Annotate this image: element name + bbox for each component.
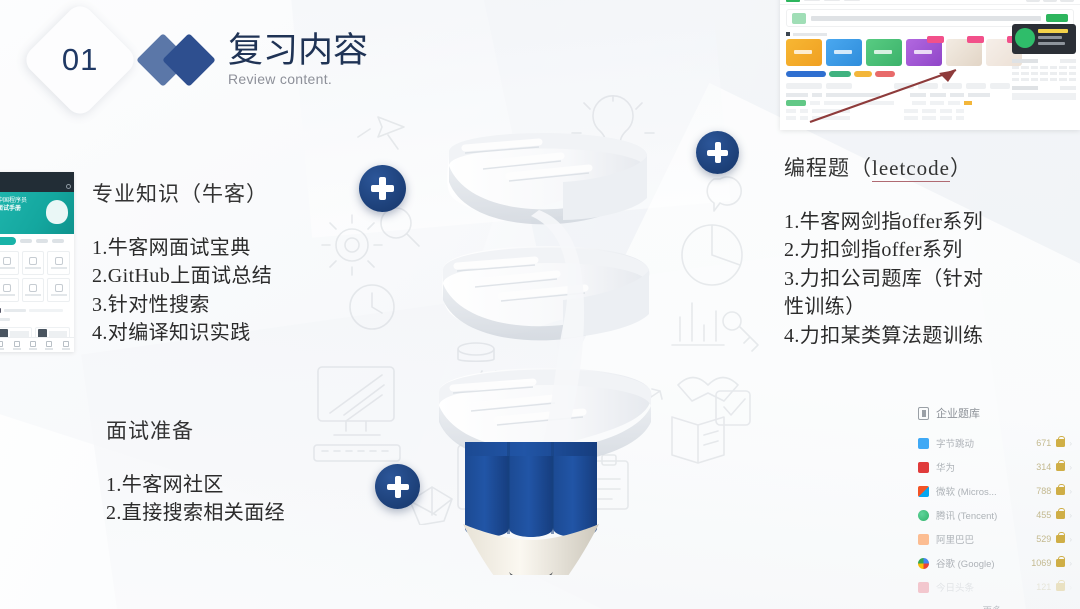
- company-row[interactable]: 谷歌 (Google) 1069 ›: [904, 551, 1080, 575]
- company-count: 121: [1036, 582, 1051, 592]
- block-heading: 专业知识（牛客）: [92, 178, 392, 208]
- lock-icon: [1056, 439, 1065, 447]
- company-logo-icon: [918, 462, 929, 473]
- mobile-section-header: [0, 306, 74, 315]
- plus-icon-button-2[interactable]: [696, 131, 739, 174]
- mobile-nav-item: [58, 338, 74, 352]
- block-item: 3.针对性搜索: [92, 291, 392, 319]
- company-row[interactable]: 今日头条 121 ›: [904, 575, 1080, 599]
- search-icon: [66, 184, 71, 189]
- spiral-staircase-pencil-illustration: [413, 120, 683, 575]
- book-icon: [918, 407, 929, 420]
- mobile-bottom-nav: [0, 337, 74, 352]
- company-name: 腾讯 (Tencent): [936, 508, 997, 522]
- mobile-tab-active: [0, 237, 16, 245]
- company-count: 314: [1036, 462, 1051, 472]
- diamond-logo-icon: [144, 30, 222, 90]
- mobile-tab-strip: [0, 234, 74, 247]
- lc-topbar-button: [1060, 0, 1074, 2]
- lc-sidebar-section-header: [1012, 86, 1076, 90]
- company-name: 微软 (Micros...: [936, 484, 997, 498]
- lock-icon: [1056, 535, 1065, 543]
- lc-daily-sub: [1038, 36, 1062, 39]
- mobile-nav-item: [8, 338, 24, 352]
- mobile-tab: [20, 239, 32, 243]
- chevron-right-icon: ›: [1069, 535, 1072, 544]
- lock-icon: [1056, 463, 1065, 471]
- company-logo-icon: [918, 486, 929, 497]
- heading-prefix: 编程题（: [784, 156, 872, 180]
- company-name: 阿里巴巴: [936, 532, 974, 546]
- company-more-link[interactable]: 更多: [904, 599, 1080, 609]
- company-row[interactable]: 华为 314 ›: [904, 455, 1080, 479]
- block-heading: 面试准备: [106, 415, 406, 445]
- chevron-right-icon: ›: [1069, 439, 1072, 448]
- mobile-nav-item: [25, 338, 41, 352]
- mobile-statusbar: [0, 172, 74, 181]
- leetcode-problemset-screenshot: [780, 0, 1080, 130]
- block-item: 3.力扣公司题库（针对: [784, 265, 1074, 293]
- company-count: 1069: [1031, 558, 1051, 568]
- mobile-tab: [36, 239, 48, 243]
- lc-calendar-week: [1012, 78, 1076, 81]
- lc-banner-icon: [792, 13, 806, 24]
- red-annotation-arrow: [806, 60, 976, 126]
- lc-calendar-week: [1012, 72, 1076, 75]
- company-row[interactable]: 字节跳动 671 ›: [904, 431, 1080, 455]
- company-panel-title-label: 企业题库: [936, 405, 980, 421]
- company-row[interactable]: 腾讯 (Tencent) 455 ›: [904, 503, 1080, 527]
- lock-icon: [1056, 511, 1065, 519]
- lc-daily-title: [1038, 29, 1068, 33]
- company-count: 788: [1036, 486, 1051, 496]
- lc-logo-icon: [786, 0, 800, 2]
- page-subtitle: Review content.: [228, 71, 368, 87]
- company-logo-icon: [918, 582, 929, 593]
- title-wrap: 复习内容 Review content.: [228, 33, 368, 88]
- lc-menu-item: [844, 0, 860, 1]
- lc-daily-progress-icon: [1015, 28, 1035, 48]
- mobile-grid-cell: [22, 278, 45, 302]
- mobile-hero-graphic: [46, 200, 68, 224]
- company-logo-icon: [918, 558, 929, 569]
- company-count: 529: [1036, 534, 1051, 544]
- slide-header: 01 复习内容 Review content.: [24, 10, 368, 110]
- lc-daily-challenge-card: [1012, 24, 1076, 54]
- lc-calendar-header: [1012, 59, 1076, 63]
- block-heading: 编程题（leetcode）: [784, 152, 1074, 182]
- text-block-coding-problems: 编程题（leetcode） 1.牛客网剑指offer系列 2.力扣剑指offer…: [784, 152, 1074, 350]
- mobile-hero-banner: 中国程序员面试手册: [0, 192, 74, 234]
- page-title: 复习内容: [228, 33, 368, 70]
- mobile-grid-cell: [47, 278, 70, 302]
- chevron-right-icon: ›: [1069, 511, 1072, 520]
- company-row[interactable]: 阿里巴巴 529 ›: [904, 527, 1080, 551]
- company-count: 671: [1036, 438, 1051, 448]
- mobile-icon-grid: [0, 247, 74, 306]
- lc-section-label: [793, 33, 827, 36]
- leetcode-link[interactable]: leetcode: [872, 156, 950, 182]
- lc-right-sidebar: [1012, 24, 1076, 100]
- lc-calendar: [1012, 59, 1076, 81]
- block-item: 1.牛客网剑指offer系列: [784, 208, 1074, 236]
- block-item: 1.牛客网面试宝典: [92, 234, 392, 262]
- mobile-grid-cell: [47, 251, 70, 275]
- company-name: 今日头条: [936, 580, 974, 594]
- chevron-right-icon: ›: [1069, 463, 1072, 472]
- mobile-grid-cell: [0, 251, 19, 275]
- mobile-grid-cell: [22, 251, 45, 275]
- lc-menu-item: [824, 0, 840, 1]
- company-logo-icon: [918, 438, 929, 449]
- slide-number: 01: [62, 42, 98, 78]
- company-count: 455: [1036, 510, 1051, 520]
- mobile-nav-item: [0, 338, 8, 352]
- block-item: 2.GitHub上面试总结: [92, 262, 392, 290]
- mobile-section-subheader: [0, 315, 74, 324]
- lc-daily-sub: [1038, 42, 1065, 45]
- company-panel-title: 企业题库: [904, 399, 1080, 431]
- company-name: 字节跳动: [936, 436, 974, 450]
- company-row[interactable]: 微软 (Micros... 788 ›: [904, 479, 1080, 503]
- lc-section-icon: [786, 32, 790, 36]
- mobile-hero-caption: 中国程序员面试手册: [0, 198, 27, 213]
- nowcoder-mobile-screenshot: 中国程序员面试手册: [0, 172, 74, 352]
- block-item: 1.牛客网社区: [106, 471, 406, 499]
- mobile-nav-item: [41, 338, 57, 352]
- chevron-right-icon: ›: [1069, 487, 1072, 496]
- company-logo-icon: [918, 534, 929, 545]
- slide-number-badge: 01: [21, 1, 140, 120]
- lc-topbar-right: [1026, 0, 1074, 2]
- text-block-interview-preparation: 面试准备 1.牛客网社区 2.直接搜索相关面经: [106, 415, 406, 528]
- block-item: 2.直接搜索相关面经: [106, 499, 406, 527]
- lock-icon: [1056, 487, 1065, 495]
- lc-topbar: [780, 0, 1080, 5]
- lc-banner-button: [1046, 14, 1068, 22]
- company-name: 华为: [936, 460, 955, 474]
- slide-canvas: 01 复习内容 Review content. 专业知识（牛客） 1.牛客网面试…: [0, 0, 1080, 609]
- company-problem-bank-panel: 企业题库 字节跳动 671 › 华为 314 › 微软 (Micros... 7…: [904, 399, 1080, 609]
- mobile-navbar: [0, 181, 74, 192]
- lc-calendar-week: [1012, 66, 1076, 69]
- lc-topbar-button: [1043, 0, 1057, 2]
- lc-sidebar-row: [1012, 93, 1076, 100]
- block-item: 4.对编译知识实践: [92, 319, 392, 347]
- lc-sidebar-section: [1012, 86, 1076, 100]
- chevron-right-icon: ›: [1069, 559, 1072, 568]
- lc-banner-text: [811, 16, 1041, 21]
- mobile-grid-cell: [0, 278, 19, 302]
- block-item: 4.力扣某类算法题训练: [784, 322, 1074, 350]
- company-name: 谷歌 (Google): [936, 556, 995, 570]
- lc-topbar-button: [1026, 0, 1040, 2]
- chevron-right-icon: ›: [1069, 583, 1072, 592]
- block-item: 性训练）: [784, 293, 1074, 321]
- company-logo-icon: [918, 510, 929, 521]
- lc-filter-item: [990, 83, 1010, 89]
- mobile-tab: [52, 239, 64, 243]
- lock-icon: [1056, 583, 1065, 591]
- text-block-professional-knowledge: 专业知识（牛客） 1.牛客网面试宝典 2.GitHub上面试总结 3.针对性搜索…: [92, 178, 392, 348]
- lc-menu-item: [804, 0, 820, 1]
- block-item: 2.力扣剑指offer系列: [784, 236, 1074, 264]
- lock-icon: [1056, 559, 1065, 567]
- heading-suffix: ）: [950, 156, 972, 180]
